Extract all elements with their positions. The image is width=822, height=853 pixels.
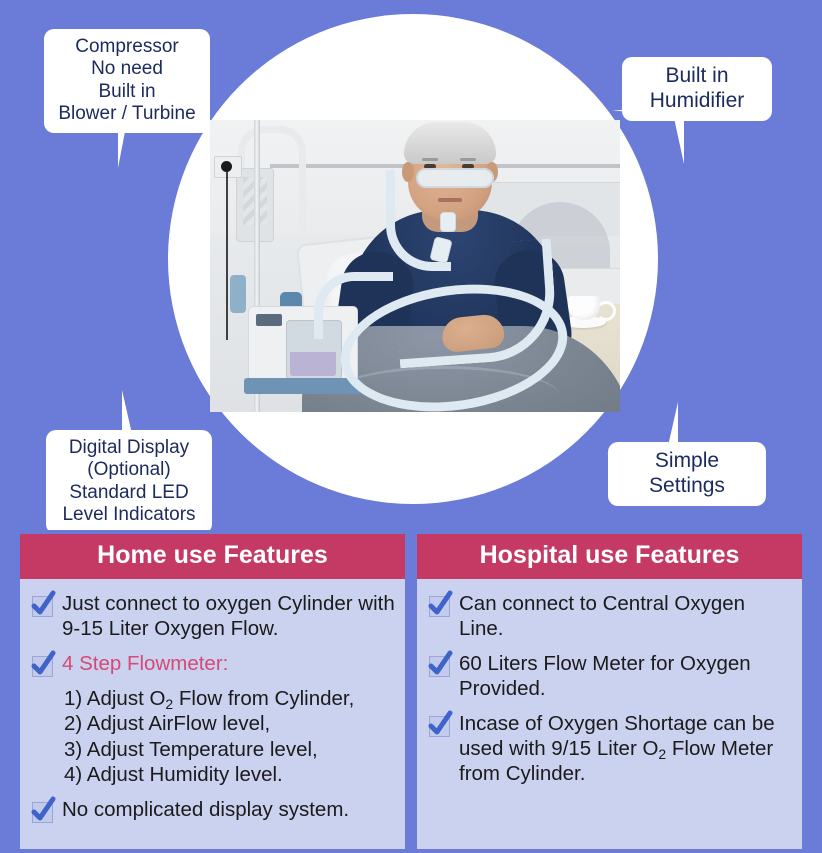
checkmark-icon [32, 596, 53, 617]
checkmark-icon [429, 656, 450, 677]
checkmark-icon [429, 596, 450, 617]
callout-simple-settings: Simple Settings [608, 442, 766, 506]
callout-compressor-line-1: Compressor [56, 36, 198, 58]
checkmark-icon [429, 716, 450, 737]
panel-hospital-use: Hospital use Features Can connect to Cen… [417, 534, 802, 849]
iv-pole-clamp [230, 275, 246, 313]
coffee-cup [568, 296, 600, 320]
flowmeter-steps: 1) Adjust O2 Flow from Cylinder, 2) Adju… [64, 686, 395, 788]
tube-clip-upper [440, 212, 456, 232]
nasal-cannula [416, 168, 494, 188]
checkmark-icon [32, 656, 53, 677]
callout-compressor-line-4: Blower / Turbine [56, 103, 198, 125]
list-item: Incase of Oxygen Shortage can be used wi… [425, 711, 792, 787]
hero-section: Compressor No need Built in Blower / Tur… [0, 0, 822, 530]
feature-text-flowmeter: 4 Step Flowmeter: [62, 651, 228, 676]
flowmeter-step-4: 4) Adjust Humidity level. [64, 762, 395, 787]
patient-hair [404, 122, 496, 164]
feature-text-oxygen-shortage: Incase of Oxygen Shortage can be used wi… [459, 711, 792, 787]
list-item: Just connect to oxygen Cylinder with 9-1… [28, 591, 395, 642]
power-cord [226, 170, 228, 340]
flowmeter-step-3: 3) Adjust Temperature level, [64, 737, 395, 762]
feature-text: Can connect to Central Oxygen Line. [459, 591, 792, 642]
infographic-page: Compressor No need Built in Blower / Tur… [0, 0, 822, 853]
patient-brow-left [422, 158, 438, 161]
callout-compressor-line-2: No need [56, 58, 198, 80]
callout-compressor: Compressor No need Built in Blower / Tur… [44, 29, 210, 133]
callout-settings-line-2: Settings [620, 474, 754, 499]
callout-settings-line-1: Simple [620, 449, 754, 474]
list-item: 4 Step Flowmeter: [28, 651, 395, 677]
patient-brow-right [460, 158, 476, 161]
photo-illustration [210, 120, 620, 412]
panel-home-use: Home use Features Just connect to oxygen… [20, 534, 405, 849]
callout-humidifier: Built in Humidifier [622, 57, 772, 121]
callout-compressor-line-3: Built in [56, 81, 198, 103]
panel-hospital-use-body: Can connect to Central Oxygen Line. 60 L… [417, 579, 802, 849]
feature-text: No complicated display system. [62, 797, 349, 822]
humidifier-water [290, 352, 336, 376]
humidifier-display [256, 314, 282, 326]
feature-text: Just connect to oxygen Cylinder with 9-1… [62, 591, 395, 642]
humidifier-base [244, 378, 362, 394]
cup-handle-icon [596, 301, 616, 321]
product-photo [210, 120, 620, 412]
callout-display-line-2: (Optional) [58, 459, 200, 481]
checkmark-icon [32, 802, 53, 823]
list-item: 60 Liters Flow Meter for Oxygen Provided… [425, 651, 792, 702]
callout-digital-display: Digital Display (Optional) Standard LED … [46, 430, 212, 530]
panel-home-use-body: Just connect to oxygen Cylinder with 9-1… [20, 579, 405, 849]
callout-humidifier-line-2: Humidifier [634, 89, 760, 114]
callout-humidifier-line-1: Built in [634, 64, 760, 89]
panel-home-use-title: Home use Features [20, 534, 405, 579]
list-item: Can connect to Central Oxygen Line. [425, 591, 792, 642]
callout-display-line-4: Level Indicators [58, 504, 200, 526]
panel-hospital-use-title: Hospital use Features [417, 534, 802, 579]
flowmeter-step-2: 2) Adjust AirFlow level, [64, 711, 395, 736]
list-item: No complicated display system. [28, 797, 395, 823]
feature-text: 60 Liters Flow Meter for Oxygen Provided… [459, 651, 792, 702]
feature-panels: Home use Features Just connect to oxygen… [0, 530, 822, 853]
callout-display-line-1: Digital Display [58, 437, 200, 459]
flowmeter-step-1: 1) Adjust O2 Flow from Cylinder, [64, 686, 395, 711]
callout-display-line-3: Standard LED [58, 482, 200, 504]
